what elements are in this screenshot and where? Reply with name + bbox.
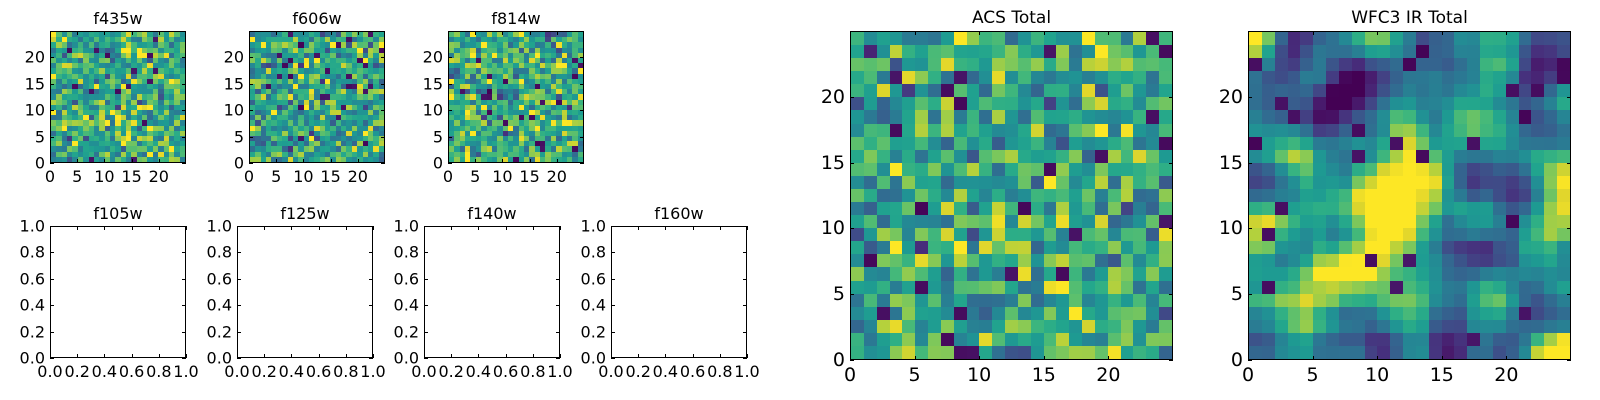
heatmap-cell bbox=[1493, 189, 1506, 202]
heatmap-cell bbox=[1262, 294, 1275, 307]
heatmap-cell bbox=[1493, 333, 1506, 346]
heatmap-cell bbox=[877, 45, 890, 58]
heatmap-cell bbox=[1082, 228, 1095, 241]
heatmap-cell bbox=[1326, 163, 1339, 176]
heatmap-cell bbox=[1480, 58, 1493, 71]
heatmap-cell bbox=[1557, 71, 1570, 84]
heatmap-grid bbox=[449, 32, 583, 162]
heatmap-cell bbox=[1146, 97, 1159, 110]
heatmap-cell bbox=[1108, 228, 1121, 241]
y-tick-right bbox=[743, 358, 747, 359]
heatmap-cell bbox=[1095, 45, 1108, 58]
heatmap-cell bbox=[1531, 281, 1544, 294]
heatmap-cell bbox=[1133, 32, 1146, 45]
heatmap-cell bbox=[180, 157, 185, 162]
heatmap-cell bbox=[1249, 254, 1262, 267]
heatmap-cell bbox=[1480, 241, 1493, 254]
axes-frame bbox=[424, 226, 560, 358]
panel-title: f435w bbox=[50, 9, 186, 28]
heatmap-cell bbox=[1390, 254, 1403, 267]
heatmap-cell bbox=[992, 45, 1005, 58]
heatmap-cell bbox=[1005, 189, 1018, 202]
heatmap-cell bbox=[1249, 163, 1262, 176]
heatmap-cell bbox=[1044, 124, 1057, 137]
heatmap-cell bbox=[1454, 241, 1467, 254]
heatmap-cell bbox=[1442, 228, 1455, 241]
y-tick-label: 15 bbox=[25, 74, 45, 93]
heatmap-cell bbox=[1442, 333, 1455, 346]
y-tick-right bbox=[580, 137, 584, 138]
heatmap-cell bbox=[954, 267, 967, 280]
panel-title: WFC3 IR Total bbox=[1248, 8, 1571, 28]
heatmap-cell bbox=[1005, 254, 1018, 267]
heatmap-cell bbox=[890, 150, 903, 163]
heatmap-cell bbox=[1429, 333, 1442, 346]
heatmap-cell bbox=[1018, 228, 1031, 241]
x-tick-top bbox=[478, 226, 479, 230]
y-tick bbox=[424, 226, 428, 227]
heatmap-cell bbox=[1262, 137, 1275, 150]
heatmap-cell bbox=[1069, 176, 1082, 189]
x-tick bbox=[1377, 356, 1378, 360]
heatmap-cell bbox=[1429, 320, 1442, 333]
panel-title: f105w bbox=[50, 204, 186, 223]
y-tick bbox=[850, 163, 854, 164]
heatmap-cell bbox=[1339, 84, 1352, 97]
heatmap-cell bbox=[941, 110, 954, 123]
heatmap-cell bbox=[967, 254, 980, 267]
x-tick-top bbox=[132, 226, 133, 230]
heatmap-cell bbox=[1326, 137, 1339, 150]
heatmap-cell bbox=[890, 333, 903, 346]
heatmap-cell bbox=[1467, 202, 1480, 215]
heatmap-cell bbox=[1416, 333, 1429, 346]
heatmap-cell bbox=[877, 124, 890, 137]
heatmap-cell bbox=[1506, 84, 1519, 97]
heatmap-cell bbox=[1133, 346, 1146, 359]
heatmap-cell bbox=[1365, 71, 1378, 84]
y-tick-label: 5 bbox=[1231, 283, 1243, 305]
heatmap-cell bbox=[1442, 294, 1455, 307]
heatmap-cell bbox=[1326, 71, 1339, 84]
heatmap-cell bbox=[1352, 124, 1365, 137]
heatmap-cell bbox=[1467, 71, 1480, 84]
heatmap-cell bbox=[1275, 176, 1288, 189]
heatmap-cell bbox=[1326, 254, 1339, 267]
heatmap-cell bbox=[1159, 150, 1172, 163]
heatmap-cell bbox=[890, 176, 903, 189]
heatmap-cell bbox=[1121, 124, 1134, 137]
heatmap-cell bbox=[967, 176, 980, 189]
heatmap-cell bbox=[851, 228, 864, 241]
heatmap-cell bbox=[1557, 97, 1570, 110]
heatmap-cell bbox=[1519, 294, 1532, 307]
x-tick bbox=[475, 159, 476, 163]
heatmap-cell bbox=[1416, 202, 1429, 215]
heatmap-cell bbox=[1121, 202, 1134, 215]
heatmap-cell bbox=[1390, 307, 1403, 320]
y-tick bbox=[850, 294, 854, 295]
x-tick-top bbox=[291, 226, 292, 230]
heatmap-cell bbox=[1082, 163, 1095, 176]
heatmap-cell bbox=[1390, 110, 1403, 123]
heatmap-cell bbox=[1044, 307, 1057, 320]
panel-title: f160w bbox=[611, 204, 747, 223]
heatmap-cell bbox=[1531, 241, 1544, 254]
heatmap-cell bbox=[992, 294, 1005, 307]
heatmap-cell bbox=[1018, 71, 1031, 84]
heatmap-cell bbox=[1326, 176, 1339, 189]
heatmap-cell bbox=[1442, 58, 1455, 71]
panel-title: f125w bbox=[237, 204, 373, 223]
heatmap-cell bbox=[1519, 163, 1532, 176]
y-tick bbox=[50, 332, 54, 333]
y-tick-right bbox=[369, 332, 373, 333]
heatmap-cell bbox=[1082, 202, 1095, 215]
heatmap-cell bbox=[1557, 241, 1570, 254]
heatmap-cell bbox=[1544, 202, 1557, 215]
heatmap-cell bbox=[890, 202, 903, 215]
heatmap-cell bbox=[967, 333, 980, 346]
heatmap-cell bbox=[1403, 320, 1416, 333]
heatmap-cell bbox=[1095, 333, 1108, 346]
heatmap-cell bbox=[1531, 307, 1544, 320]
heatmap-cell bbox=[890, 346, 903, 359]
heatmap-cell bbox=[1146, 137, 1159, 150]
heatmap-cell bbox=[1480, 84, 1493, 97]
heatmap-cell bbox=[1377, 58, 1390, 71]
heatmap-cell bbox=[1531, 267, 1544, 280]
heatmap-cell bbox=[1108, 150, 1121, 163]
heatmap-cell bbox=[1339, 202, 1352, 215]
heatmap-cell bbox=[1544, 228, 1557, 241]
heatmap-cell bbox=[851, 241, 864, 254]
heatmap-cell bbox=[1403, 137, 1416, 150]
heatmap-cell bbox=[915, 294, 928, 307]
heatmap-cell bbox=[1133, 124, 1146, 137]
heatmap-cell bbox=[877, 346, 890, 359]
heatmap-cell bbox=[1275, 163, 1288, 176]
heatmap-cell bbox=[1480, 281, 1493, 294]
heatmap-cell bbox=[941, 71, 954, 84]
heatmap-cell bbox=[1352, 202, 1365, 215]
heatmap-cell bbox=[1069, 320, 1082, 333]
y-tick bbox=[850, 97, 854, 98]
y-tick-label: 10 bbox=[224, 101, 244, 120]
heatmap-cell bbox=[1044, 202, 1057, 215]
heatmap-cell bbox=[1506, 137, 1519, 150]
heatmap-cell bbox=[1519, 346, 1532, 359]
heatmap-cell bbox=[1288, 346, 1301, 359]
heatmap-cell bbox=[1377, 189, 1390, 202]
heatmap-cell bbox=[928, 320, 941, 333]
heatmap-cell bbox=[1339, 307, 1352, 320]
heatmap-cell bbox=[941, 241, 954, 254]
heatmap-cell bbox=[1506, 346, 1519, 359]
heatmap-cell bbox=[1146, 241, 1159, 254]
heatmap-cell bbox=[1262, 215, 1275, 228]
heatmap-cell bbox=[979, 294, 992, 307]
heatmap-cell bbox=[902, 84, 915, 97]
heatmap-cell bbox=[1095, 58, 1108, 71]
heatmap-cell bbox=[1557, 45, 1570, 58]
heatmap-cell bbox=[1531, 150, 1544, 163]
y-tick-label: 0.0 bbox=[394, 349, 419, 368]
x-tick-label: 0.4 bbox=[279, 362, 304, 381]
heatmap-cell bbox=[1249, 228, 1262, 241]
heatmap-cell bbox=[1095, 189, 1108, 202]
heatmap-cell bbox=[1031, 124, 1044, 137]
heatmap-cell bbox=[1557, 163, 1570, 176]
heatmap-cell bbox=[864, 97, 877, 110]
x-tick-label: 1.0 bbox=[173, 362, 198, 381]
heatmap-cell bbox=[1313, 346, 1326, 359]
y-tick-label: 5 bbox=[833, 283, 845, 305]
heatmap-cell bbox=[877, 241, 890, 254]
heatmap-cell bbox=[1467, 124, 1480, 137]
x-tick-top bbox=[665, 226, 666, 230]
heatmap-cell bbox=[1095, 84, 1108, 97]
y-tick bbox=[1248, 294, 1252, 295]
heatmap-cell bbox=[928, 333, 941, 346]
heatmap-cell bbox=[1557, 58, 1570, 71]
heatmap-cell bbox=[1339, 163, 1352, 176]
heatmap-cell bbox=[979, 32, 992, 45]
heatmap-cell bbox=[1506, 150, 1519, 163]
heatmap-cell bbox=[967, 215, 980, 228]
heatmap-cell bbox=[915, 124, 928, 137]
heatmap-cell bbox=[954, 346, 967, 359]
heatmap-cell bbox=[1326, 84, 1339, 97]
heatmap-cell bbox=[1069, 124, 1082, 137]
heatmap-cell bbox=[915, 84, 928, 97]
y-tick-right bbox=[556, 305, 560, 306]
heatmap-cell bbox=[1275, 294, 1288, 307]
heatmap-cell bbox=[1146, 124, 1159, 137]
heatmap-cell bbox=[1249, 110, 1262, 123]
heatmap-cell bbox=[1262, 84, 1275, 97]
x-tick-label: 0.6 bbox=[119, 362, 144, 381]
heatmap-cell bbox=[1031, 137, 1044, 150]
y-tick-right bbox=[381, 84, 385, 85]
heatmap-cell bbox=[954, 294, 967, 307]
heatmap-cell bbox=[941, 189, 954, 202]
heatmap-cell bbox=[992, 346, 1005, 359]
heatmap-cell bbox=[902, 281, 915, 294]
x-tick bbox=[451, 354, 452, 358]
x-tick-top bbox=[506, 226, 507, 230]
heatmap-cell bbox=[1531, 84, 1544, 97]
heatmap-cell bbox=[992, 71, 1005, 84]
y-tick bbox=[1248, 97, 1252, 98]
heatmap-cell bbox=[1288, 281, 1301, 294]
heatmap-cell bbox=[1531, 189, 1544, 202]
heatmap-cell bbox=[1519, 124, 1532, 137]
heatmap-cell bbox=[979, 84, 992, 97]
heatmap-cell bbox=[954, 150, 967, 163]
heatmap-cell bbox=[1133, 150, 1146, 163]
heatmap-cell bbox=[1031, 254, 1044, 267]
heatmap-cell bbox=[928, 228, 941, 241]
heatmap-cell bbox=[1326, 124, 1339, 137]
heatmap-cell bbox=[1377, 84, 1390, 97]
x-tick-label: 0.6 bbox=[306, 362, 331, 381]
heatmap-cell bbox=[1557, 137, 1570, 150]
heatmap-cell bbox=[1429, 110, 1442, 123]
heatmap-cell bbox=[1044, 150, 1057, 163]
heatmap-cell bbox=[1313, 97, 1326, 110]
heatmap-cell bbox=[1056, 307, 1069, 320]
heatmap-cell bbox=[1288, 307, 1301, 320]
x-tick-top bbox=[264, 226, 265, 230]
heatmap-cell bbox=[954, 320, 967, 333]
heatmap-cell bbox=[1493, 228, 1506, 241]
heatmap-cell bbox=[1557, 307, 1570, 320]
heatmap-cell bbox=[1108, 137, 1121, 150]
heatmap-cell bbox=[1313, 176, 1326, 189]
heatmap-cell bbox=[1403, 294, 1416, 307]
heatmap-cell bbox=[1390, 97, 1403, 110]
heatmap-cell bbox=[1429, 307, 1442, 320]
heatmap-cell bbox=[1429, 346, 1442, 359]
y-tick bbox=[1248, 228, 1252, 229]
heatmap-cell bbox=[890, 97, 903, 110]
heatmap-cell bbox=[864, 254, 877, 267]
heatmap-cell bbox=[851, 267, 864, 280]
heatmap-cell bbox=[1288, 45, 1301, 58]
y-tick-right bbox=[743, 252, 747, 253]
y-tick-right bbox=[369, 305, 373, 306]
x-tick-label: 5 bbox=[470, 167, 480, 186]
heatmap-cell bbox=[1557, 150, 1570, 163]
heatmap-cell bbox=[1056, 215, 1069, 228]
heatmap-cell bbox=[1288, 267, 1301, 280]
heatmap-cell bbox=[1557, 202, 1570, 215]
heatmap-cell bbox=[1557, 294, 1570, 307]
heatmap-cell bbox=[915, 32, 928, 45]
heatmap-cell bbox=[1108, 176, 1121, 189]
heatmap-cell bbox=[890, 320, 903, 333]
x-tick-label: 0.8 bbox=[146, 362, 171, 381]
heatmap-cell bbox=[1442, 267, 1455, 280]
heatmap-cell bbox=[1467, 281, 1480, 294]
heatmap-cell bbox=[915, 137, 928, 150]
heatmap-cell bbox=[1519, 215, 1532, 228]
heatmap-cell bbox=[1300, 320, 1313, 333]
y-tick-label: 0.4 bbox=[581, 296, 606, 315]
heatmap-cell bbox=[1121, 254, 1134, 267]
x-tick bbox=[478, 354, 479, 358]
heatmap-cell bbox=[902, 333, 915, 346]
heatmap-cell bbox=[1133, 281, 1146, 294]
heatmap-cell bbox=[1018, 320, 1031, 333]
heatmap-cell bbox=[1146, 333, 1159, 346]
heatmap-cell bbox=[851, 150, 864, 163]
heatmap-cell bbox=[1519, 189, 1532, 202]
heatmap-cell bbox=[1275, 267, 1288, 280]
heatmap-cell bbox=[902, 137, 915, 150]
heatmap-cell bbox=[954, 202, 967, 215]
heatmap-cell bbox=[1056, 320, 1069, 333]
heatmap-cell bbox=[1288, 163, 1301, 176]
heatmap-cell bbox=[1056, 58, 1069, 71]
heatmap-cell bbox=[1326, 228, 1339, 241]
heatmap-cell bbox=[1044, 281, 1057, 294]
y-tick-label: 20 bbox=[1219, 86, 1243, 108]
y-tick bbox=[50, 252, 54, 253]
heatmap-cell bbox=[1146, 176, 1159, 189]
heatmap-cell bbox=[1339, 267, 1352, 280]
heatmap-cell bbox=[1365, 150, 1378, 163]
heatmap-cell bbox=[1300, 215, 1313, 228]
x-tick-label: 20 bbox=[1494, 364, 1518, 386]
y-tick bbox=[50, 137, 54, 138]
heatmap-cell bbox=[864, 176, 877, 189]
y-tick-right bbox=[182, 163, 186, 164]
heatmap-cell bbox=[941, 215, 954, 228]
x-tick-label: 0.8 bbox=[520, 362, 545, 381]
heatmap-cell bbox=[1005, 110, 1018, 123]
heatmap-cell bbox=[877, 333, 890, 346]
heatmap-cell bbox=[890, 32, 903, 45]
x-tick bbox=[264, 354, 265, 358]
heatmap-cell bbox=[1352, 215, 1365, 228]
heatmap-cell bbox=[967, 163, 980, 176]
heatmap-cell bbox=[1467, 215, 1480, 228]
heatmap-cell bbox=[1429, 202, 1442, 215]
heatmap-cell bbox=[1005, 137, 1018, 150]
heatmap-cell bbox=[1133, 320, 1146, 333]
heatmap-cell bbox=[1467, 176, 1480, 189]
heatmap-cell bbox=[1159, 97, 1172, 110]
heatmap-cell bbox=[1352, 71, 1365, 84]
heatmap-cell bbox=[1121, 228, 1134, 241]
heatmap-cell bbox=[890, 228, 903, 241]
heatmap-cell bbox=[1557, 84, 1570, 97]
heatmap-cell bbox=[1480, 320, 1493, 333]
y-tick-right bbox=[1169, 97, 1173, 98]
heatmap-cell bbox=[1416, 110, 1429, 123]
y-tick-label: 0.8 bbox=[581, 243, 606, 262]
heatmap-cell bbox=[1300, 176, 1313, 189]
heatmap-cell bbox=[864, 163, 877, 176]
heatmap-cell bbox=[915, 45, 928, 58]
heatmap-cell bbox=[1300, 241, 1313, 254]
x-tick-label: 0.2 bbox=[438, 362, 463, 381]
heatmap-cell bbox=[992, 137, 1005, 150]
heatmap-cell bbox=[1493, 307, 1506, 320]
heatmap-cell bbox=[1352, 84, 1365, 97]
heatmap-cell bbox=[967, 241, 980, 254]
heatmap-cell bbox=[1288, 189, 1301, 202]
y-tick-right bbox=[743, 305, 747, 306]
heatmap-cell bbox=[1377, 163, 1390, 176]
heatmap-cell bbox=[1159, 294, 1172, 307]
heatmap-cell bbox=[1403, 346, 1416, 359]
heatmap-cell bbox=[1416, 124, 1429, 137]
heatmap-cell bbox=[954, 110, 967, 123]
heatmap-cell bbox=[1467, 137, 1480, 150]
x-tick-top bbox=[533, 226, 534, 230]
heatmap-cell bbox=[1044, 97, 1057, 110]
heatmap-cell bbox=[967, 110, 980, 123]
heatmap-cell bbox=[1300, 71, 1313, 84]
heatmap-cell bbox=[1018, 150, 1031, 163]
heatmap-cell bbox=[1146, 281, 1159, 294]
heatmap-cell bbox=[1531, 137, 1544, 150]
heatmap-cell bbox=[1069, 333, 1082, 346]
x-tick-label: 0.6 bbox=[680, 362, 705, 381]
